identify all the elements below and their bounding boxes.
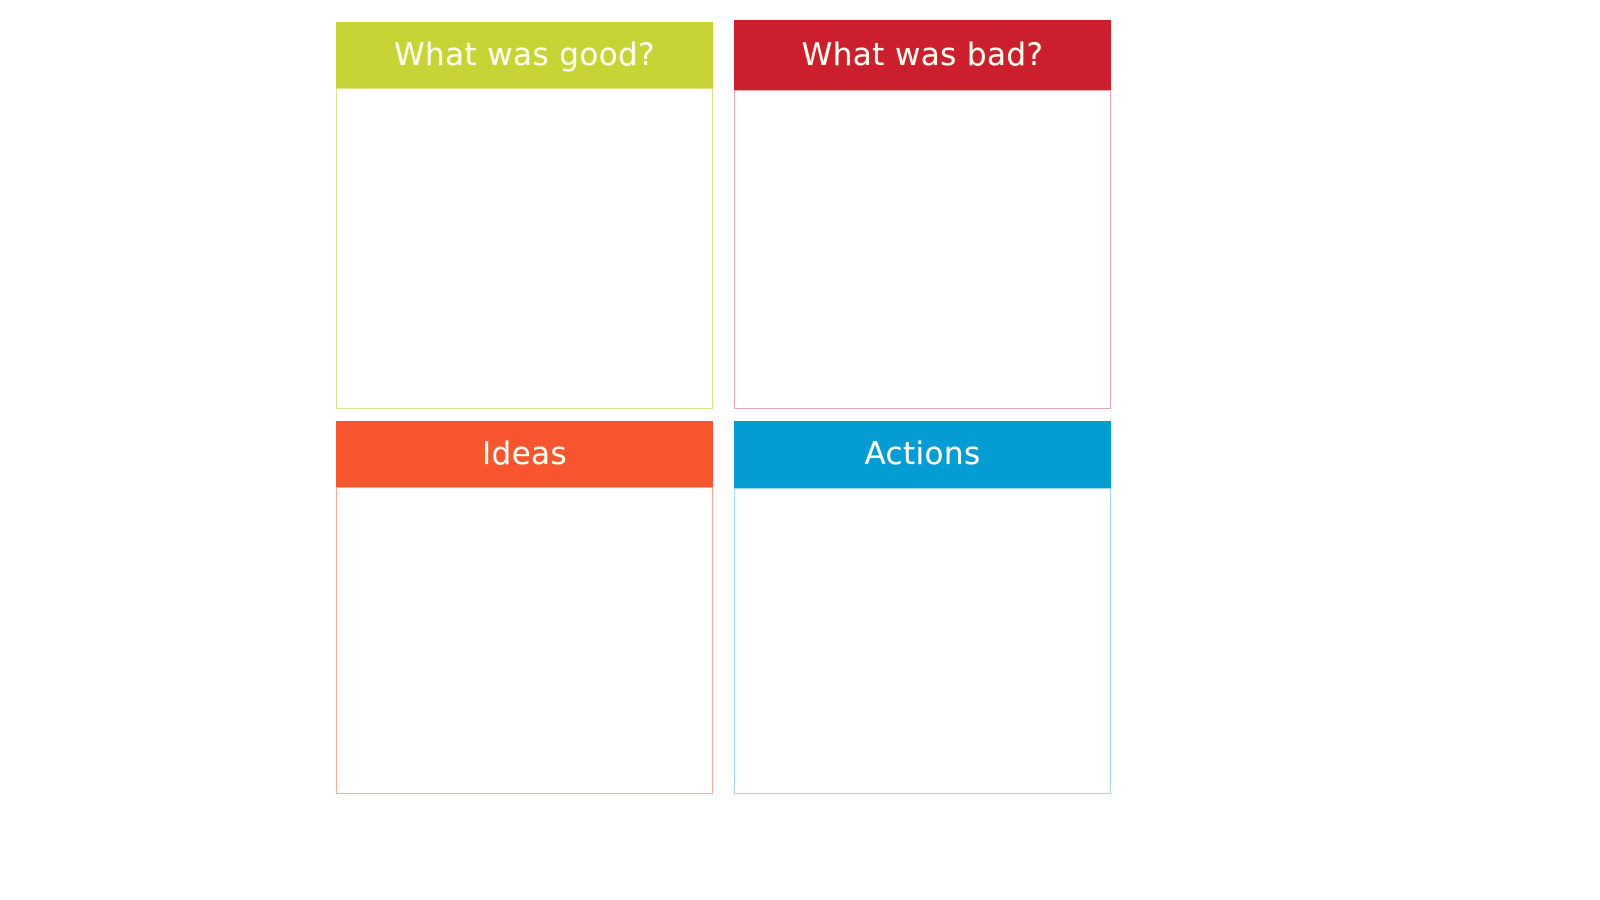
quadrant-actions: Actions — [734, 421, 1111, 794]
quadrant-good-header[interactable]: What was good? — [336, 22, 713, 88]
quadrant-actions-body[interactable] — [734, 488, 1111, 794]
quadrant-good-title: What was good? — [394, 40, 655, 71]
quadrant-actions-notes-area[interactable] — [735, 489, 1110, 793]
retrospective-board: What was good? What was bad? Ideas — [0, 0, 1600, 900]
quadrant-grid: What was good? What was bad? Ideas — [336, 22, 1111, 794]
quadrant-good-notes-area[interactable] — [337, 89, 712, 408]
quadrant-ideas: Ideas — [336, 421, 713, 794]
quadrant-actions-title: Actions — [864, 439, 980, 470]
quadrant-bad-title: What was bad? — [802, 40, 1044, 71]
quadrant-ideas-header[interactable]: Ideas — [336, 421, 713, 487]
quadrant-ideas-body[interactable] — [336, 487, 713, 794]
quadrant-bad-body[interactable] — [734, 90, 1111, 409]
quadrant-actions-header[interactable]: Actions — [734, 421, 1111, 488]
quadrant-ideas-notes-area[interactable] — [337, 488, 712, 793]
quadrant-good: What was good? — [336, 22, 713, 409]
quadrant-good-body[interactable] — [336, 88, 713, 409]
quadrant-bad: What was bad? — [734, 20, 1111, 409]
quadrant-bad-header[interactable]: What was bad? — [734, 20, 1111, 90]
quadrant-bad-notes-area[interactable] — [735, 91, 1110, 408]
quadrant-ideas-title: Ideas — [482, 439, 567, 470]
